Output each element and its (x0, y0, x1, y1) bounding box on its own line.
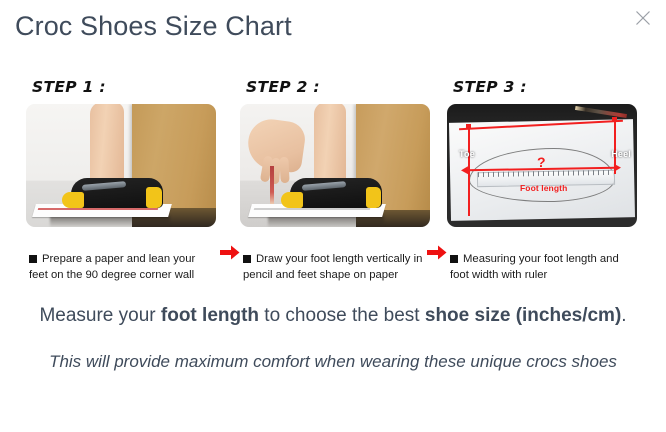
step-2-photo (240, 104, 430, 227)
bullet-square-icon (29, 255, 37, 263)
instruction-part-3: . (621, 305, 626, 326)
modal-header: Croc Shoes Size Chart (0, 0, 666, 62)
step-2-caption-text: Draw your foot length vertically in penc… (243, 253, 422, 281)
step-1-caption-text: Prepare a paper and lean your feet on th… (29, 253, 195, 281)
bullet-square-icon (450, 255, 458, 263)
step-3-label: STEP 3 : (453, 78, 639, 97)
step-2-label: STEP 2 : (246, 78, 432, 97)
close-button[interactable] (630, 5, 656, 31)
heel-label: Heel (611, 149, 631, 159)
measure-instruction: Measure your foot length to choose the b… (0, 303, 666, 329)
instruction-bold-foot-length: foot length (161, 305, 259, 326)
instruction-part-1: Measure your (39, 305, 160, 326)
bullet-square-icon (243, 255, 251, 263)
measure-point-right (612, 117, 617, 122)
step-1-caption: Prepare a paper and lean your feet on th… (29, 251, 217, 283)
step-1: STEP 1 : (26, 78, 218, 227)
step-1-photo (26, 104, 216, 227)
sock-heel-accent (146, 187, 162, 208)
sock-toe-accent (62, 192, 84, 208)
sock-heel-accent (366, 187, 381, 208)
toe-label: Toe (459, 149, 475, 159)
pencil (270, 166, 274, 206)
instruction-part-2: to choose the best (259, 305, 425, 326)
floor-reflection (50, 216, 170, 227)
close-icon (635, 10, 651, 26)
paper-edge-line (254, 208, 371, 210)
instruction-bold-shoe-size: shoe size (inches/cm) (425, 305, 621, 326)
step-3-caption: Measuring your foot length and foot widt… (450, 251, 638, 283)
finger (279, 157, 289, 183)
measure-line-left (468, 126, 470, 216)
page-title: Croc Shoes Size Chart (15, 11, 292, 42)
step-3-photo: Toe Heel ? Foot length (447, 104, 637, 227)
step-2: STEP 2 : (240, 78, 432, 227)
paper-edge-line (38, 208, 159, 210)
step-1-label: STEP 1 : (32, 78, 218, 97)
measure-point-left (466, 124, 471, 129)
arrow-right-icon-1 (220, 245, 240, 260)
step-2-caption: Draw your foot length vertically in penc… (243, 251, 431, 283)
floor-reflection (268, 216, 384, 227)
foot-length-label: Foot length (520, 183, 567, 193)
comfort-note: This will provide maximum comfort when w… (38, 347, 628, 376)
sock-toe-accent (281, 192, 303, 208)
step-3: STEP 3 : Toe Heel ? Foot length (447, 78, 639, 227)
question-mark-label: ? (537, 154, 546, 170)
step-3-caption-text: Measuring your foot length and foot widt… (450, 253, 619, 281)
